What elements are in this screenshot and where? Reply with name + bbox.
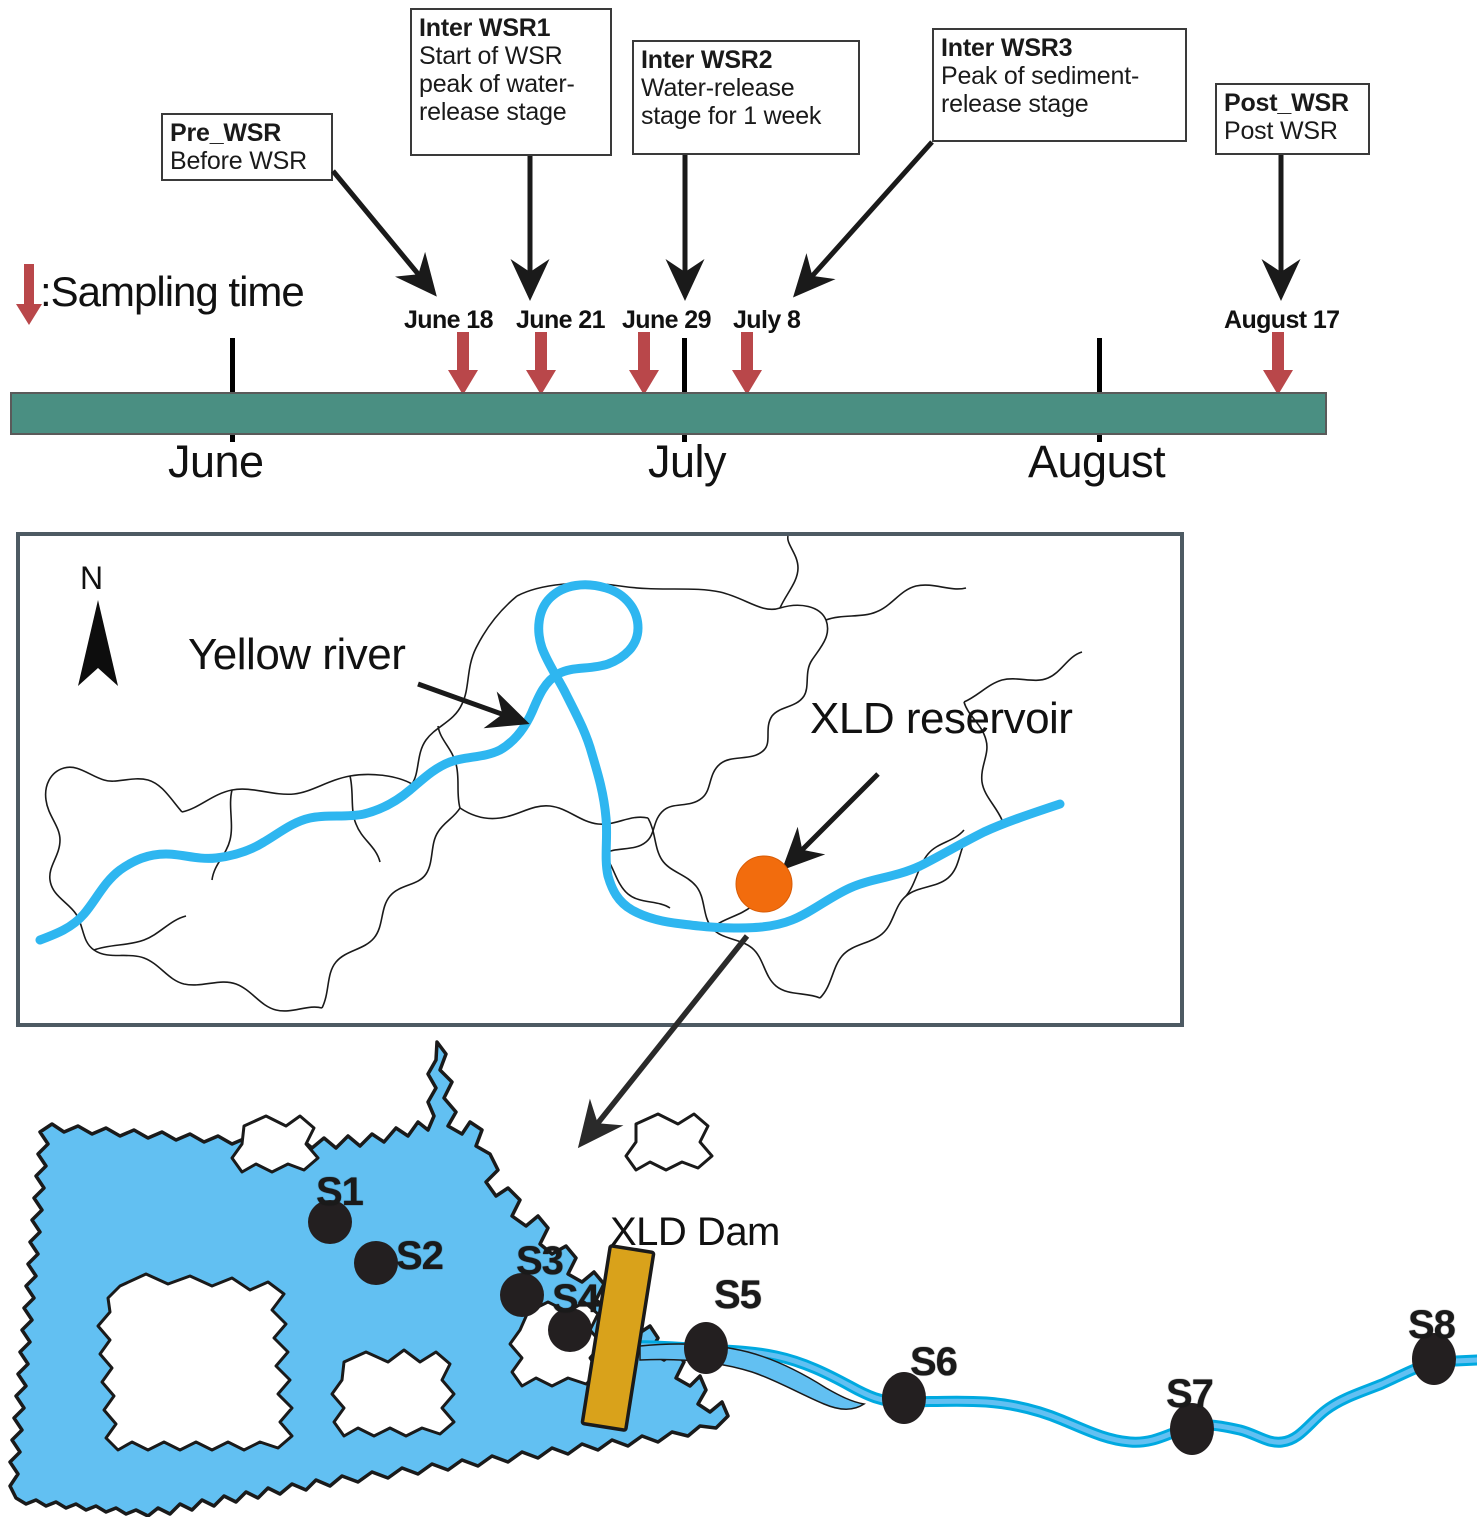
station-label-s6: S6 bbox=[910, 1340, 957, 1385]
compass-label-north: N bbox=[80, 560, 103, 597]
xld-reservoir-label: XLD reservoir bbox=[810, 694, 1072, 744]
date-label-june-18: June 18 bbox=[404, 306, 493, 335]
station-label-s5: S5 bbox=[714, 1273, 761, 1318]
callout-line: release stage bbox=[941, 90, 1178, 118]
callout-title: Inter WSR1 bbox=[419, 14, 603, 42]
callout-post-wsr: Post_WSR Post WSR bbox=[1215, 83, 1370, 155]
callout-title: Inter WSR3 bbox=[941, 34, 1178, 62]
xld-reservoir-panel: S1 S2 S3 S4 S5 S6 S7 S8 XLD Dam bbox=[0, 1030, 1477, 1517]
date-label-june-29: June 29 bbox=[622, 306, 711, 335]
station-marker-s2[interactable] bbox=[354, 1241, 398, 1285]
callout-pre-wsr: Pre_WSR Before WSR bbox=[161, 113, 333, 181]
callout-line: Post WSR bbox=[1224, 117, 1361, 145]
callout-line: Peak of sediment- bbox=[941, 62, 1178, 90]
station-label-s1: S1 bbox=[316, 1170, 363, 1215]
callout-line: stage for 1 week bbox=[641, 102, 851, 130]
xld-dam-label: XLD Dam bbox=[610, 1210, 780, 1255]
month-label-june: June bbox=[168, 436, 264, 488]
station-label-s2: S2 bbox=[396, 1234, 443, 1279]
timeline-bar bbox=[10, 392, 1327, 435]
station-label-s7: S7 bbox=[1166, 1372, 1213, 1417]
yellow-river-label: Yellow river bbox=[188, 630, 405, 680]
callout-line: Start of WSR bbox=[419, 42, 603, 70]
date-label-july-8: July 8 bbox=[733, 306, 800, 335]
station-label-s8: S8 bbox=[1408, 1303, 1455, 1348]
callout-title: Inter WSR2 bbox=[641, 46, 851, 74]
sampling-arrows-group bbox=[0, 332, 1477, 398]
month-label-july: July bbox=[648, 436, 726, 488]
callout-line: Before WSR bbox=[170, 147, 324, 175]
callout-line: peak of water- bbox=[419, 70, 603, 98]
callout-line: Water-release bbox=[641, 74, 851, 102]
yellow-river-leader bbox=[418, 684, 524, 722]
callout-inter-wsr1: Inter WSR1 Start of WSR peak of water- r… bbox=[410, 8, 612, 156]
callout-inter-wsr3: Inter WSR3 Peak of sediment- release sta… bbox=[932, 28, 1187, 142]
callout-line: release stage bbox=[419, 98, 603, 126]
date-label-june-21: June 21 bbox=[516, 306, 605, 335]
callout-inter-wsr2: Inter WSR2 Water-release stage for 1 wee… bbox=[632, 40, 860, 155]
station-marker-s5[interactable] bbox=[684, 1322, 728, 1374]
month-label-august: August bbox=[1028, 436, 1165, 488]
station-label-s4: S4 bbox=[552, 1277, 599, 1322]
north-arrow-icon bbox=[70, 598, 126, 690]
callout-title: Pre_WSR bbox=[170, 119, 324, 147]
callout-title: Post_WSR bbox=[1224, 89, 1361, 117]
date-label-august-17: August 17 bbox=[1224, 306, 1339, 335]
sampling-time-legend-label: :Sampling time bbox=[40, 268, 304, 316]
xld-reservoir-leader bbox=[786, 774, 878, 866]
